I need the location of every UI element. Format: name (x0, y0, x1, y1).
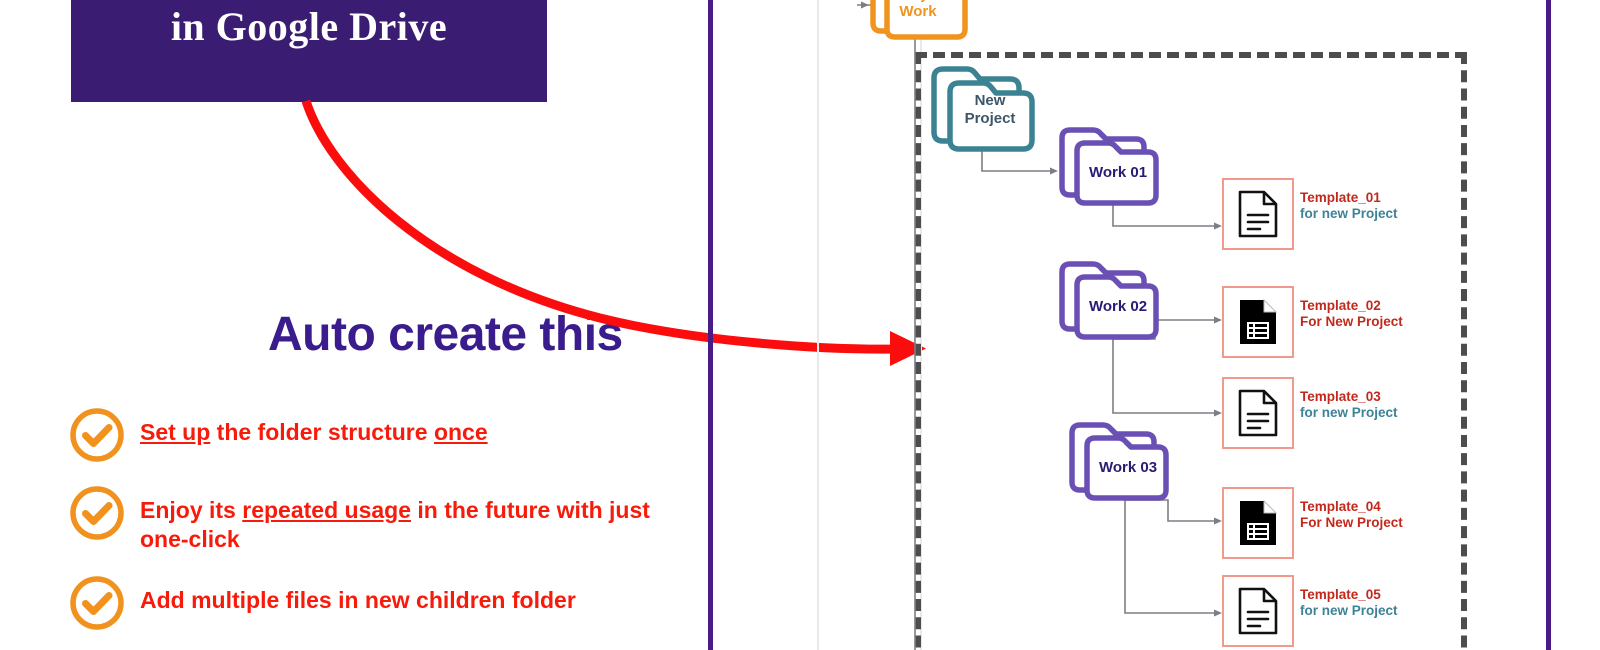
template-04-name: Template_04 (1300, 499, 1403, 515)
template-03-label: Template_03 for new Project (1300, 389, 1398, 421)
slide-canvas: in Google Drive Auto create this Set up … (0, 0, 1600, 650)
template-02-icon-box[interactable] (1222, 286, 1294, 358)
check-circle-icon (68, 484, 126, 542)
check-circle-icon (68, 574, 126, 632)
list-item: Enjoy its repeated usage in the future w… (68, 484, 688, 554)
template-02-subtitle: For New Project (1300, 314, 1403, 330)
spreadsheet-file-icon (1237, 498, 1279, 548)
banner-title: in Google Drive (71, 3, 547, 50)
folder-work-03[interactable]: Work 03 (1066, 419, 1170, 503)
template-02-label: Template_02 For New Project (1300, 298, 1403, 330)
folder-my-work[interactable]: My Work (865, 0, 967, 40)
column-guide-1 (817, 0, 819, 650)
template-02-name: Template_02 (1300, 298, 1403, 314)
template-05-icon-box[interactable] (1222, 575, 1294, 647)
template-01-icon-box[interactable] (1222, 178, 1294, 250)
template-05-label: Template_05 for new Project (1300, 587, 1398, 619)
template-item-02[interactable]: Template_02 For New Project (1222, 286, 1522, 358)
template-04-icon-box[interactable] (1222, 487, 1294, 559)
folder-new-project[interactable]: New Project (928, 62, 1032, 154)
panel-divider-left (708, 0, 713, 650)
list-item-label-1: Enjoy its repeated usage in the future w… (140, 484, 688, 554)
list-item-label-2: Add multiple files in new children folde… (140, 574, 576, 615)
panel-divider-right (1546, 0, 1551, 650)
template-03-icon-box[interactable] (1222, 377, 1294, 449)
template-item-03[interactable]: Template_03 for new Project (1222, 377, 1522, 449)
document-file-icon (1237, 586, 1279, 636)
template-03-subtitle: for new Project (1300, 405, 1398, 421)
folder-work-01[interactable]: Work 01 (1056, 124, 1160, 208)
template-01-subtitle: for new Project (1300, 206, 1398, 222)
feature-checklist: Set up the folder structure once Enjoy i… (68, 406, 688, 650)
template-05-name: Template_05 (1300, 587, 1398, 603)
template-item-05[interactable]: Template_05 for new Project (1222, 575, 1522, 647)
title-banner: in Google Drive (71, 0, 547, 102)
template-01-label: Template_01 for new Project (1300, 190, 1398, 222)
document-file-icon (1237, 189, 1279, 239)
template-05-subtitle: for new Project (1300, 603, 1398, 619)
folder-work-02[interactable]: Work 02 (1056, 258, 1160, 342)
spreadsheet-file-icon (1237, 297, 1279, 347)
template-item-01[interactable]: Template_01 for new Project (1222, 178, 1522, 250)
page-title: Auto create this (268, 307, 623, 362)
template-03-name: Template_03 (1300, 389, 1398, 405)
check-circle-icon (68, 406, 126, 464)
document-file-icon (1237, 388, 1279, 438)
list-item: Set up the folder structure once (68, 406, 688, 464)
template-04-label: Template_04 For New Project (1300, 499, 1403, 531)
template-01-name: Template_01 (1300, 190, 1398, 206)
list-item-label-0: Set up the folder structure once (140, 406, 488, 447)
list-item: Add multiple files in new children folde… (68, 574, 688, 632)
template-item-04[interactable]: Template_04 For New Project (1222, 487, 1522, 559)
template-04-subtitle: For New Project (1300, 515, 1403, 531)
